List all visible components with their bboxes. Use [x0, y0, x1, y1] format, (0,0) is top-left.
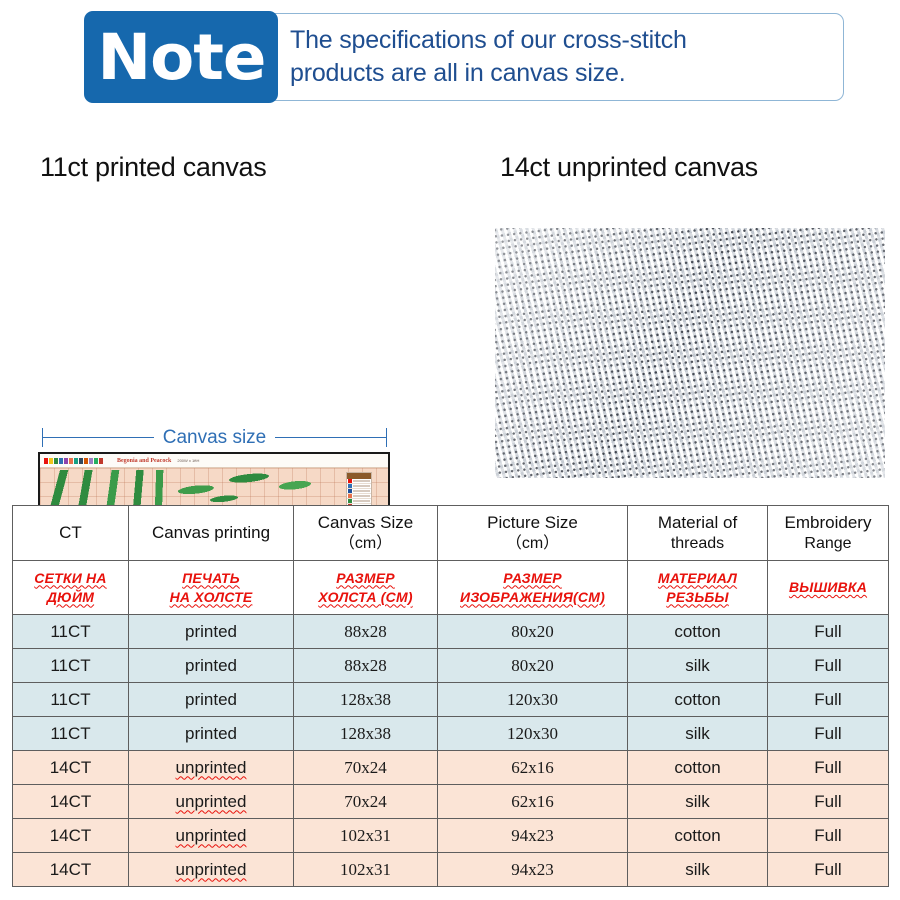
cell-material: cotton: [628, 615, 768, 649]
specifications-table: CT Canvas printing Canvas Size （cm） Pict…: [12, 505, 889, 887]
cell-material: silk: [628, 785, 768, 819]
cell-picture-size: 62x16: [438, 785, 628, 819]
cell-range: Full: [768, 853, 889, 887]
column-header-embroidery-range-unit: Range: [770, 534, 886, 554]
cell-canvas-size: 70x24: [294, 785, 438, 819]
cell-ct: 11CT: [13, 717, 129, 751]
column-header-ct: CT: [13, 506, 129, 561]
cell-canvas-size: 102x31: [294, 819, 438, 853]
cell-material: cotton: [628, 819, 768, 853]
column-header-ct-ru: СЕТКИ НА ДЮЙМ: [13, 561, 129, 615]
table-row: 11CT printed 88x28 80x20 silk Full: [13, 649, 889, 683]
note-message: The specifications of our cross-stitch p…: [290, 11, 828, 103]
table-row: 14CT unprinted 70x24 62x16 cotton Full: [13, 751, 889, 785]
cell-printing: unprinted: [129, 819, 294, 853]
column-header-picture-size-unit: （cm）: [440, 534, 625, 554]
cell-printing: unprinted: [129, 751, 294, 785]
column-header-material: Material of threads: [628, 506, 768, 561]
column-header-material-label: Material of: [658, 513, 737, 532]
cell-ct: 14CT: [13, 785, 129, 819]
header-row-english: CT Canvas printing Canvas Size （cm） Pict…: [13, 506, 889, 561]
dimension-cap-right: [386, 428, 387, 447]
cell-range: Full: [768, 615, 889, 649]
column-header-picture-size-label: Picture Size: [487, 513, 578, 532]
cell-range: Full: [768, 649, 889, 683]
table-head: CT Canvas printing Canvas Size （cm） Pict…: [13, 506, 889, 615]
ru-line-2: ДЮЙМ: [47, 588, 94, 607]
cell-canvas-size: 128x38: [294, 683, 438, 717]
column-header-canvas-printing-ru: ПЕЧАТЬ НА ХОЛСТЕ: [129, 561, 294, 615]
cell-material: silk: [628, 717, 768, 751]
ru-line-1: РАЗМЕР: [336, 569, 395, 588]
cell-printing: printed: [129, 615, 294, 649]
canvas-size-label: Canvas size: [154, 428, 276, 447]
ru-line-1: РАЗМЕР: [503, 569, 562, 588]
cell-printing: printed: [129, 683, 294, 717]
cell-material: cotton: [628, 751, 768, 785]
column-header-canvas-printing: Canvas printing: [129, 506, 294, 561]
header-row-russian: СЕТКИ НА ДЮЙМ ПЕЧАТЬ НА ХОЛСТЕ РАЗМЕР ХО…: [13, 561, 889, 615]
cell-material: cotton: [628, 683, 768, 717]
palette-swatches: [44, 458, 103, 464]
cell-ct: 11CT: [13, 615, 129, 649]
cell-picture-size: 80x20: [438, 615, 628, 649]
canvas-chart-header: Begonia and Peacock 200W x 1ftH: [40, 454, 388, 468]
canvas-sheen-overlay: [495, 228, 885, 478]
cell-picture-size: 94x23: [438, 853, 628, 887]
column-header-canvas-size-label: Canvas Size: [318, 513, 413, 532]
cell-printing: printed: [129, 717, 294, 751]
section-title-14ct: 14ct unprinted canvas: [500, 152, 758, 183]
note-banner: Note The specifications of our cross-sti…: [84, 11, 844, 103]
dimension-bar-right: [275, 437, 386, 438]
table-row: 11CT printed 88x28 80x20 cotton Full: [13, 615, 889, 649]
cell-ct: 14CT: [13, 751, 129, 785]
cell-picture-size: 62x16: [438, 751, 628, 785]
column-header-material-unit: threads: [630, 534, 765, 554]
column-header-canvas-printing-label: Canvas printing: [152, 523, 270, 542]
ru-line-1: ВЫШИВКА: [789, 578, 867, 597]
cell-canvas-size: 88x28: [294, 615, 438, 649]
cell-canvas-size: 102x31: [294, 853, 438, 887]
table-row: 11CT printed 128x38 120x30 cotton Full: [13, 683, 889, 717]
cell-picture-size: 120x30: [438, 717, 628, 751]
cell-printing: unprinted: [129, 853, 294, 887]
cell-range: Full: [768, 683, 889, 717]
canvas-size-dimension-rule: Canvas size: [42, 427, 387, 447]
cell-canvas-size: 128x38: [294, 717, 438, 751]
table-row: 14CT unprinted 70x24 62x16 silk Full: [13, 785, 889, 819]
cell-picture-size: 120x30: [438, 683, 628, 717]
column-header-embroidery-range: Embroidery Range: [768, 506, 889, 561]
printed-canvas-figure: Canvas size: [0, 205, 460, 490]
note-badge-label: Note: [97, 26, 265, 89]
ru-line-2: НА ХОЛСТЕ: [170, 588, 253, 607]
ru-line-2: ИЗОБРАЖЕНИЯ(СМ): [460, 588, 605, 607]
artwork-dimensions: 200W x 1ftH: [177, 458, 199, 463]
dimension-bar-left: [43, 437, 154, 438]
cell-material: silk: [628, 853, 768, 887]
cell-picture-size: 94x23: [438, 819, 628, 853]
section-title-11ct: 11ct printed canvas: [40, 152, 266, 183]
cell-printing-text: unprinted: [176, 860, 247, 879]
column-header-embroidery-range-ru: ВЫШИВКА: [768, 561, 889, 615]
cell-printing-text: unprinted: [176, 758, 247, 777]
cell-ct: 14CT: [13, 853, 129, 887]
ru-line-1: МАТЕРИАЛ: [658, 569, 737, 588]
note-message-line-2: products are all in canvas size.: [290, 57, 828, 91]
table-row: 11CT printed 128x38 120x30 silk Full: [13, 717, 889, 751]
cell-range: Full: [768, 751, 889, 785]
ru-line-1: СЕТКИ НА: [34, 569, 106, 588]
column-header-material-ru: МАТЕРИАЛ РЕЗЬБЫ: [628, 561, 768, 615]
cell-range: Full: [768, 785, 889, 819]
ru-line-2: РЕЗЬБЫ: [666, 588, 729, 607]
cell-ct: 11CT: [13, 649, 129, 683]
cell-ct: 14CT: [13, 819, 129, 853]
table-body: 11CT printed 88x28 80x20 cotton Full 11C…: [13, 615, 889, 887]
column-header-ct-label: CT: [59, 523, 82, 542]
cell-printing-text: unprinted: [176, 826, 247, 845]
unprinted-canvas-swatch: [495, 228, 885, 478]
cell-canvas-size: 88x28: [294, 649, 438, 683]
column-header-picture-size: Picture Size （cm）: [438, 506, 628, 561]
cell-material: silk: [628, 649, 768, 683]
ru-line-1: ПЕЧАТЬ: [182, 569, 240, 588]
table-row: 14CT unprinted 102x31 94x23 silk Full: [13, 853, 889, 887]
cell-ct: 11CT: [13, 683, 129, 717]
cell-canvas-size: 70x24: [294, 751, 438, 785]
note-message-line-1: The specifications of our cross-stitch: [290, 24, 828, 58]
note-badge: Note: [84, 11, 278, 103]
cell-range: Full: [768, 819, 889, 853]
table-row: 14CT unprinted 102x31 94x23 cotton Full: [13, 819, 889, 853]
artwork-title: Begonia and Peacock: [117, 458, 171, 464]
cell-range: Full: [768, 717, 889, 751]
column-header-canvas-size: Canvas Size （cm）: [294, 506, 438, 561]
cell-picture-size: 80x20: [438, 649, 628, 683]
ru-line-2: ХОЛСТА (СМ): [318, 588, 412, 607]
cell-printing: unprinted: [129, 785, 294, 819]
column-header-embroidery-range-label: Embroidery: [785, 513, 872, 532]
cell-printing-text: unprinted: [176, 792, 247, 811]
column-header-canvas-size-ru: РАЗМЕР ХОЛСТА (СМ): [294, 561, 438, 615]
cell-printing: printed: [129, 649, 294, 683]
column-header-picture-size-ru: РАЗМЕР ИЗОБРАЖЕНИЯ(СМ): [438, 561, 628, 615]
column-header-canvas-size-unit: （cm）: [296, 534, 435, 554]
